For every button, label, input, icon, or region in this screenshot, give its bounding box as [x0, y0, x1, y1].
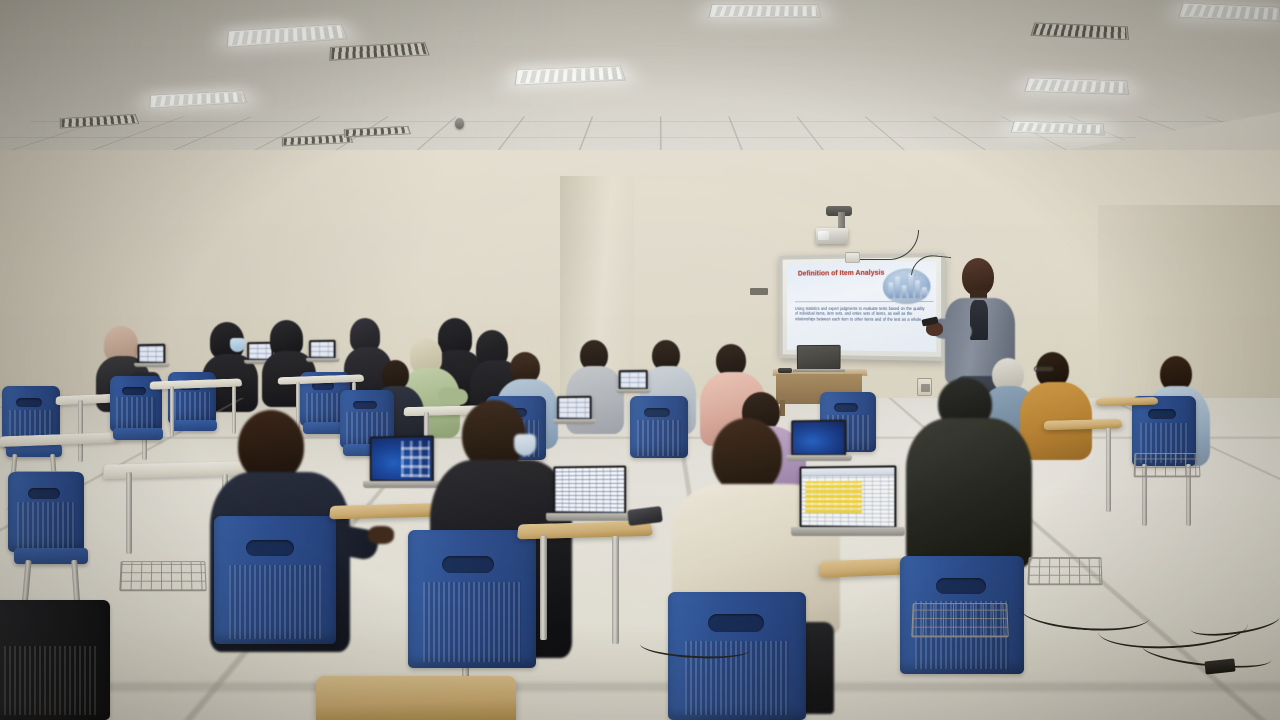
- attendee-hoodie: [906, 418, 1032, 568]
- laptop-screen: [553, 466, 626, 515]
- chair-handle-slot: [1148, 409, 1176, 419]
- desk-leg: [1106, 428, 1111, 512]
- desk-leg: [78, 400, 83, 462]
- slide-photo-bar: [895, 276, 900, 298]
- laptop-base: [134, 363, 170, 367]
- desktop-icon-grid: [401, 441, 430, 478]
- chair-handle-slot: [28, 488, 60, 499]
- chair-handle-slot: [936, 578, 986, 594]
- desk-leg: [540, 536, 547, 640]
- slide-photo-bar: [902, 285, 907, 298]
- highlighted-cells: [805, 481, 862, 513]
- laptop-screen-content: [139, 346, 163, 362]
- slide-photo-bar: [922, 287, 927, 298]
- laptop-base: [791, 527, 905, 536]
- laptop-screen: [370, 435, 434, 482]
- sprinkler-head: [455, 118, 464, 129]
- projector-lens-icon: [818, 231, 829, 240]
- chair-handle-slot: [246, 540, 294, 556]
- wire-basket: [119, 561, 206, 591]
- laptop-screen-content: [311, 342, 334, 357]
- chair-back: [408, 530, 536, 668]
- laptop-screen: [619, 370, 648, 390]
- tablet-arm-desk-wood: [316, 676, 516, 720]
- chair-handle-slot: [644, 408, 670, 417]
- wall-marking: [750, 288, 768, 295]
- attendee-head: [712, 418, 782, 494]
- presenter-laptop-base: [793, 369, 846, 372]
- chair-handle-slot: [442, 556, 494, 573]
- laptop-screen: [137, 344, 165, 365]
- classroom-photo: Definition of Item Analysis Using statis…: [0, 0, 1280, 720]
- desk-accessory: [778, 368, 792, 373]
- presenter-laptop: [797, 345, 841, 370]
- chair-handle-slot: [353, 401, 377, 409]
- laptop-screen-content: [555, 468, 624, 513]
- presenter-shirt: [970, 300, 988, 340]
- laptop-base: [306, 358, 340, 362]
- laptop-base: [546, 513, 634, 521]
- slide-photo-bar: [889, 282, 894, 298]
- chair-back: [0, 600, 110, 720]
- face-mask: [230, 338, 245, 352]
- slide-body-text: Using statistics and expert judgments to…: [795, 306, 929, 322]
- chair-handle-slot: [16, 398, 42, 407]
- desk-leg: [170, 386, 174, 436]
- ceiling-light-panel: [708, 4, 821, 18]
- laptop-base: [616, 389, 651, 393]
- chair-back: [8, 472, 84, 552]
- sheet-toolbar: [801, 467, 894, 476]
- chair-handle-slot: [122, 387, 146, 395]
- chair-handle-slot: [834, 403, 858, 412]
- laptop-screen: [800, 465, 897, 528]
- laptop-screen: [309, 340, 336, 359]
- laptop-screen-content: [621, 372, 646, 388]
- attendee-a13: [906, 378, 1036, 564]
- chair-seat: [113, 428, 163, 440]
- slide-title: Definition of Item Analysis: [796, 268, 887, 278]
- wire-basket: [911, 603, 1009, 637]
- chair-back: [214, 516, 336, 644]
- wire-basket: [1027, 557, 1102, 585]
- face-mask: [514, 434, 536, 456]
- desk-leg: [126, 472, 132, 554]
- attendee-hand: [368, 526, 394, 544]
- slide-photo-bar: [908, 273, 913, 298]
- glasses-icon: [1034, 366, 1054, 372]
- chair-handle-slot: [708, 614, 764, 632]
- slide-photo-bar: [915, 280, 920, 298]
- desk-leg: [612, 536, 619, 644]
- tablet-arm-desk-wood: [1096, 397, 1159, 406]
- wall-connection-plate: [845, 252, 860, 263]
- wire-basket: [1134, 453, 1201, 477]
